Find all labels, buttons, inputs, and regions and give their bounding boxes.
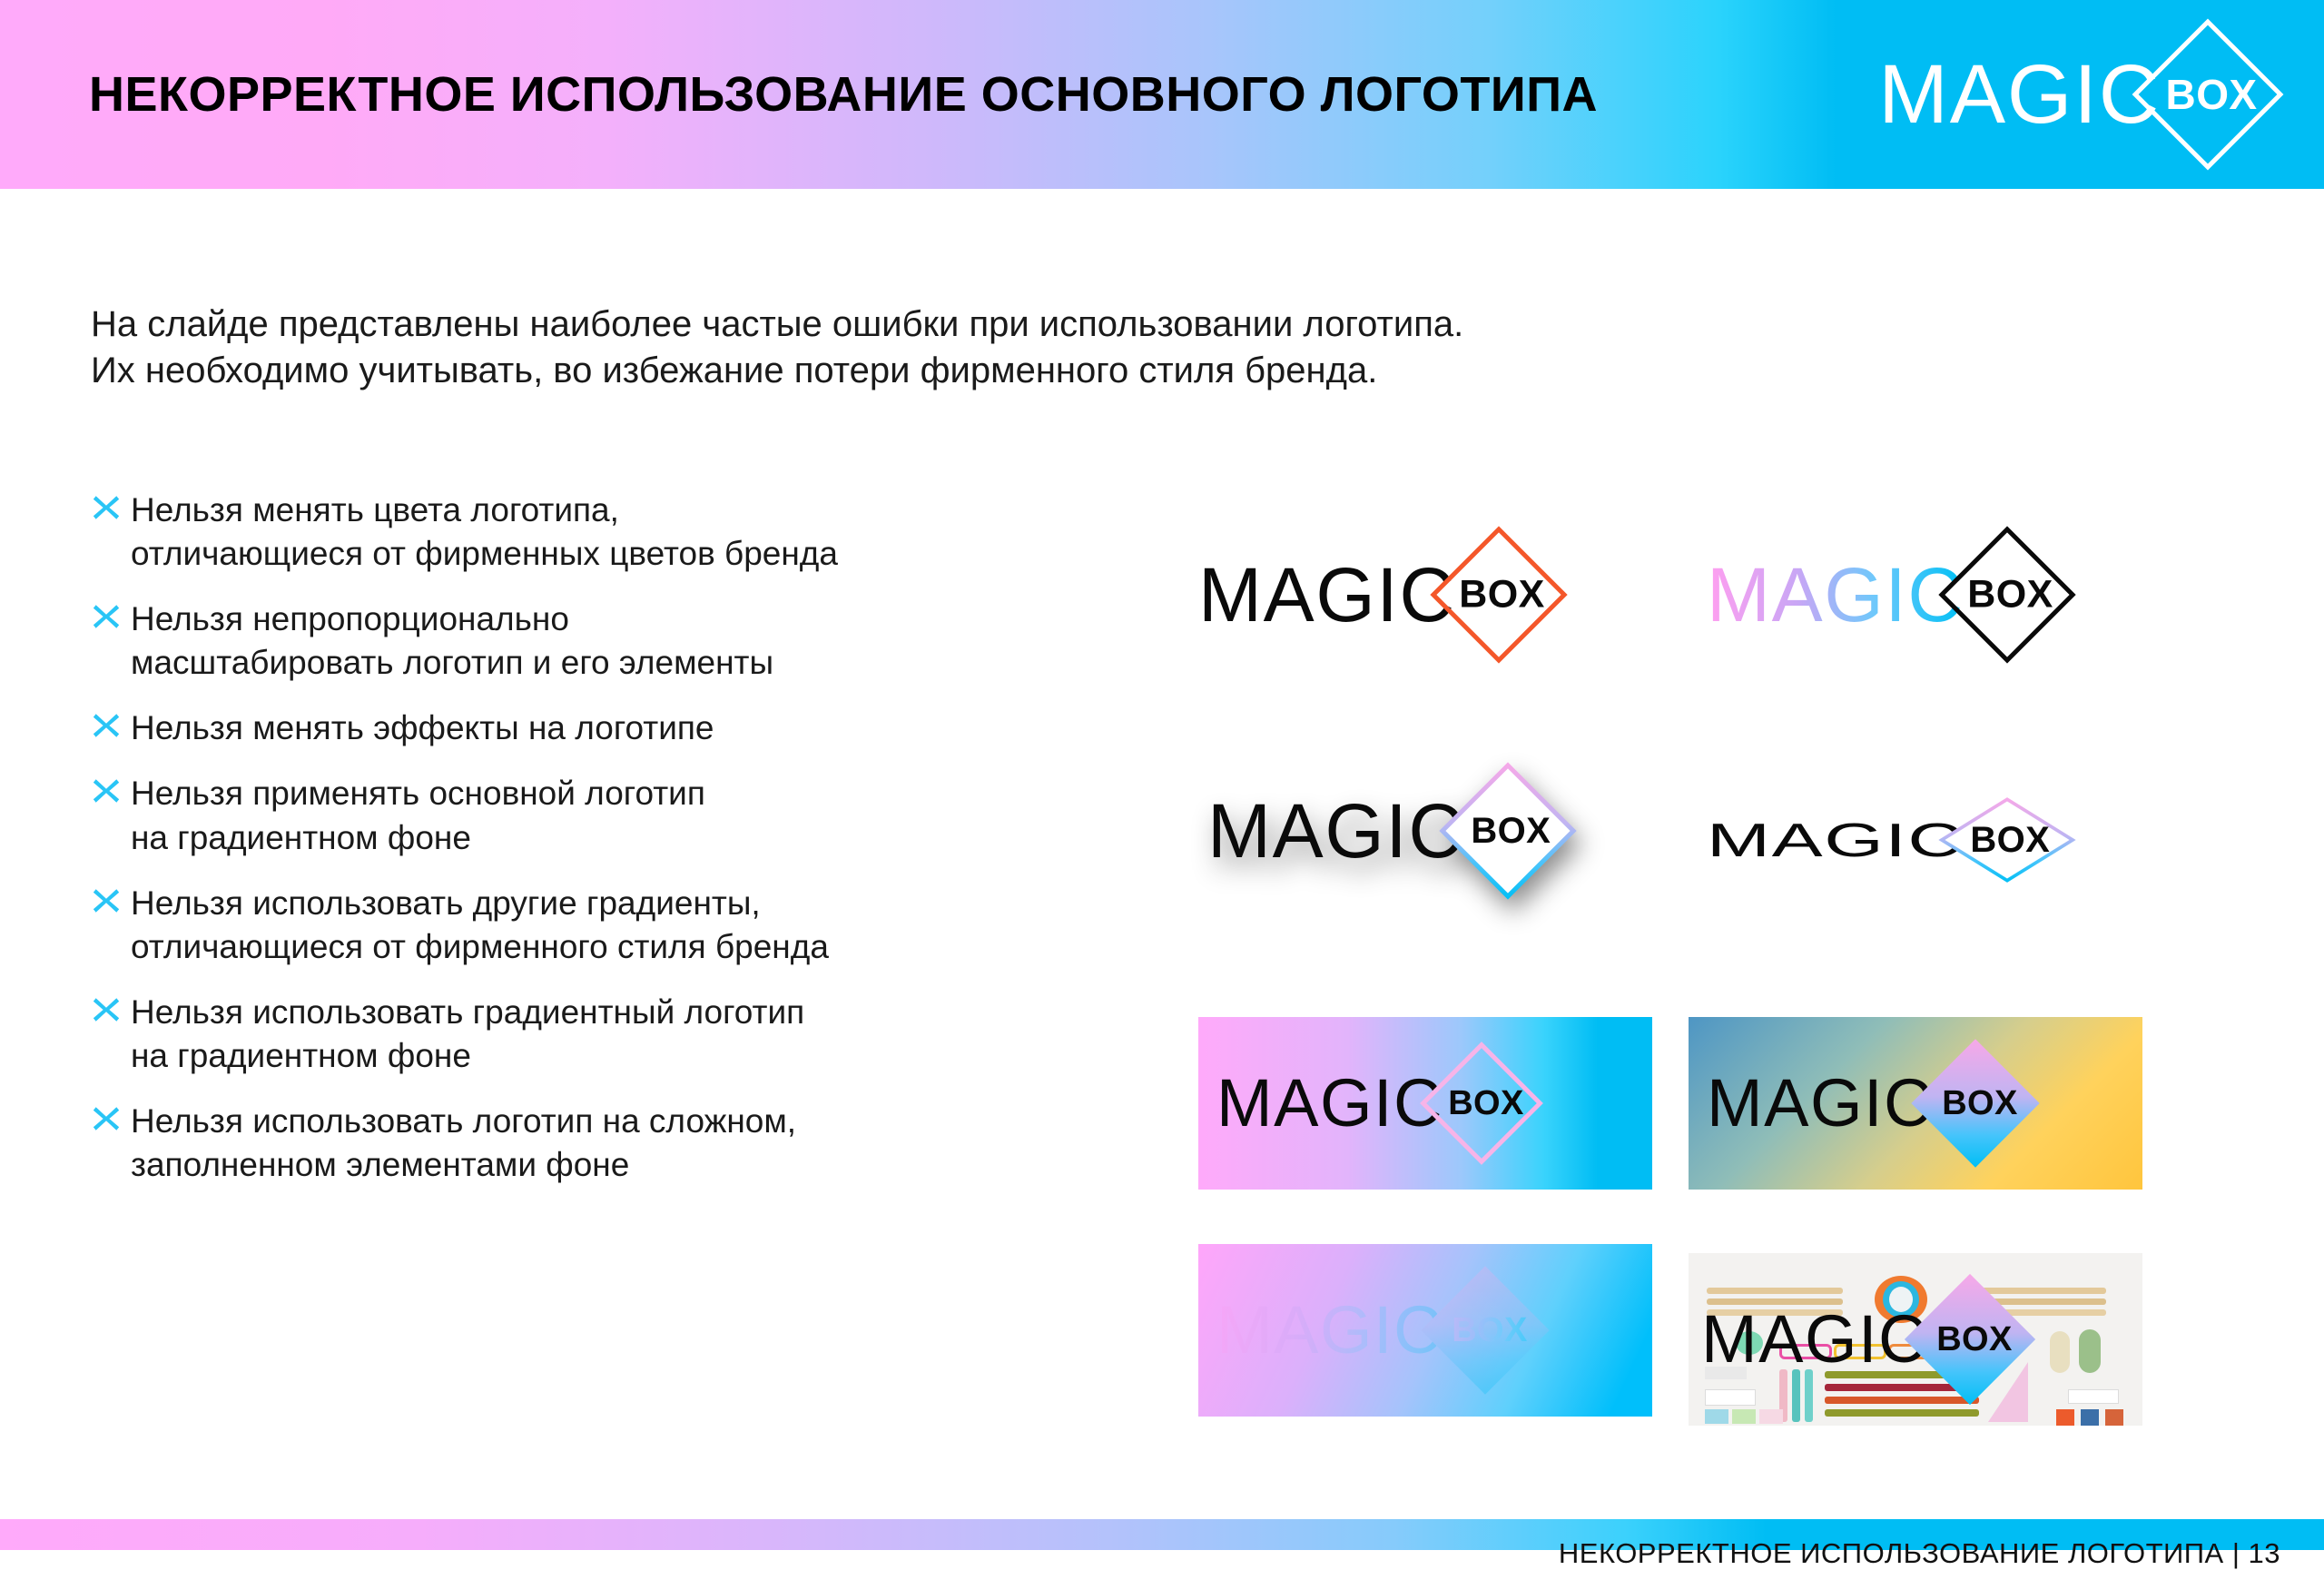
diamond-icon: BOX (1939, 527, 2075, 663)
sticky-note-icon (1705, 1409, 1728, 1424)
logo-badge: BOX (2166, 74, 2258, 115)
diamond-icon: BOX (1422, 1043, 1541, 1163)
logo-examples: MAGIC BOX MAGIC BOX MAGIC BOX (1198, 472, 2270, 645)
list-item-text: Нельзя непропорционально масштабировать … (131, 597, 773, 685)
list-item-line: на градиентном фоне (131, 1034, 804, 1078)
list-item: Нельзя непропорционально масштабировать … (91, 597, 1235, 685)
intro-paragraph: На слайде представлены наиболее частые о… (91, 301, 2052, 394)
diamond-icon: BOX (1939, 798, 2075, 883)
slide-header: НЕКОРРЕКТНОЕ ИСПОЛЬЗОВАНИЕ ОСНОВНОГО ЛОГ… (0, 0, 2324, 189)
sticky-note-icon (1759, 1409, 1783, 1424)
cross-icon (91, 710, 127, 745)
list-item-text: Нельзя менять цвета логотипа, отличающие… (131, 489, 838, 576)
diamond-icon: BOX (1906, 1276, 2033, 1403)
marker-icon (2079, 1329, 2101, 1373)
logo-word: MAGIC (1216, 1070, 1443, 1137)
cross-icon (91, 885, 127, 920)
list-item-text: Нельзя менять эффекты на логотипе (131, 706, 714, 750)
pencil-icon (1825, 1409, 1979, 1417)
logo-badge: BOX (1448, 1086, 1524, 1121)
intro-line-1: На слайде представлены наиболее частые о… (91, 301, 2052, 348)
list-item-line: отличающиеся от фирменных цветов бренда (131, 532, 838, 576)
marker-icon (2105, 1409, 2123, 1426)
list-item: Нельзя использовать градиентный логотип … (91, 991, 1235, 1078)
logo-word: MAGIC (1878, 53, 2161, 136)
list-item: Нельзя менять эффекты на логотипе (91, 706, 1235, 750)
list-item-line: Нельзя применять основной логотип (131, 772, 705, 815)
marker-icon (2056, 1409, 2074, 1426)
list-item-line: на градиентном фоне (131, 816, 705, 860)
slide-footer: НЕКОРРЕКТНОЕ ИСПОЛЬЗОВАНИЕ ЛОГОТИПА | 13 (0, 1519, 2324, 1550)
logo-word: MAGIC (1707, 557, 1965, 633)
list-item-line: Нельзя менять эффекты на логотипе (131, 706, 714, 750)
example-gradient-word-black-diamond: MAGIC BOX (1707, 527, 2075, 663)
logo-word: MAGIC (1216, 1297, 1443, 1364)
list-item-line: Нельзя менять цвета логотипа, (131, 489, 838, 532)
list-item: Нельзя применять основной логотип на гра… (91, 772, 1235, 859)
eraser-icon (2068, 1389, 2119, 1404)
cross-icon (91, 601, 127, 636)
logo-word: MAGIC (1198, 557, 1456, 633)
diamond-icon: BOX (1422, 1267, 1549, 1394)
diamond-icon: BOX (1440, 763, 1576, 899)
list-item: Нельзя использовать другие градиенты, от… (91, 882, 1235, 969)
logo-word: MAGIC (1701, 1306, 1928, 1373)
page-title: НЕКОРРЕКТНОЕ ИСПОЛЬЗОВАНИЕ ОСНОВНОГО ЛОГ… (89, 66, 1598, 123)
list-item: Нельзя менять цвета логотипа, отличающие… (91, 489, 1235, 576)
logo-badge: BOX (1967, 576, 2053, 615)
list-item-line: отличающиеся от фирменного стиля бренда (131, 925, 829, 969)
list-item-line: Нельзя использовать другие градиенты, (131, 882, 829, 925)
example-wrong-color-diamond: MAGIC BOX (1198, 527, 1567, 663)
cross-icon (91, 994, 127, 1029)
list-item-line: заполненном элементами фоне (131, 1143, 796, 1187)
logo-word: MAGIC (1707, 1070, 1934, 1137)
list-item-text: Нельзя использовать градиентный логотип … (131, 991, 804, 1078)
example-logo-on-busy-photo: MAGIC BOX (1689, 1253, 2142, 1426)
list-item-line: Нельзя использовать градиентный логотип (131, 991, 804, 1034)
logo-badge: BOX (1452, 1313, 1528, 1348)
list-item-line: Нельзя непропорционально (131, 597, 773, 641)
marker-icon (2081, 1409, 2099, 1426)
example-gradient-logo-on-gradient: MAGIC BOX (1198, 1244, 1652, 1417)
logo-badge: BOX (1471, 813, 1551, 849)
list-item: Нельзя использовать логотип на сложном, … (91, 1100, 1235, 1187)
list-item-text: Нельзя применять основной логотип на гра… (131, 772, 705, 859)
cross-icon (91, 775, 127, 810)
intro-line-2: Их необходимо учитывать, во избежание по… (91, 348, 2052, 394)
example-logo-with-shadow: MAGIC BOX (1207, 763, 1576, 899)
cross-icon (91, 492, 127, 527)
logo-badge: BOX (1459, 576, 1544, 615)
list-item-text: Нельзя использовать другие градиенты, от… (131, 882, 829, 969)
example-brand-gradient-background: MAGIC BOX (1198, 1017, 1652, 1190)
cross-icon (91, 1103, 127, 1138)
footer-caption: НЕКОРРЕКТНОЕ ИСПОЛЬЗОВАНИЕ ЛОГОТИПА | 13 (1559, 1537, 2280, 1570)
list-item-line: масштабировать логотип и его элементы (131, 641, 773, 685)
logo-word: MAGIC (1707, 816, 1965, 864)
example-foreign-gradient-background: MAGIC BOX (1689, 1017, 2142, 1190)
list-item-text: Нельзя использовать логотип на сложном, … (131, 1100, 796, 1187)
logo-word: MAGIC (1207, 793, 1465, 869)
marker-icon (2050, 1331, 2070, 1373)
logo-badge: BOX (1942, 1086, 2018, 1121)
rules-list: Нельзя менять цвета логотипа, отличающие… (91, 489, 1235, 1209)
diamond-icon: BOX (2133, 20, 2282, 169)
brand-logo-header: MAGIC BOX (1878, 4, 2282, 185)
list-item-line: Нельзя использовать логотип на сложном, (131, 1100, 796, 1143)
diamond-icon: BOX (1431, 527, 1567, 663)
diamond-icon: BOX (1912, 1040, 2039, 1167)
logo-badge: BOX (1936, 1322, 2013, 1357)
sticky-note-icon (1732, 1409, 1756, 1424)
logo-badge: BOX (1970, 822, 2050, 858)
example-logo-squashed: MAGIC BOX (1707, 772, 2075, 908)
